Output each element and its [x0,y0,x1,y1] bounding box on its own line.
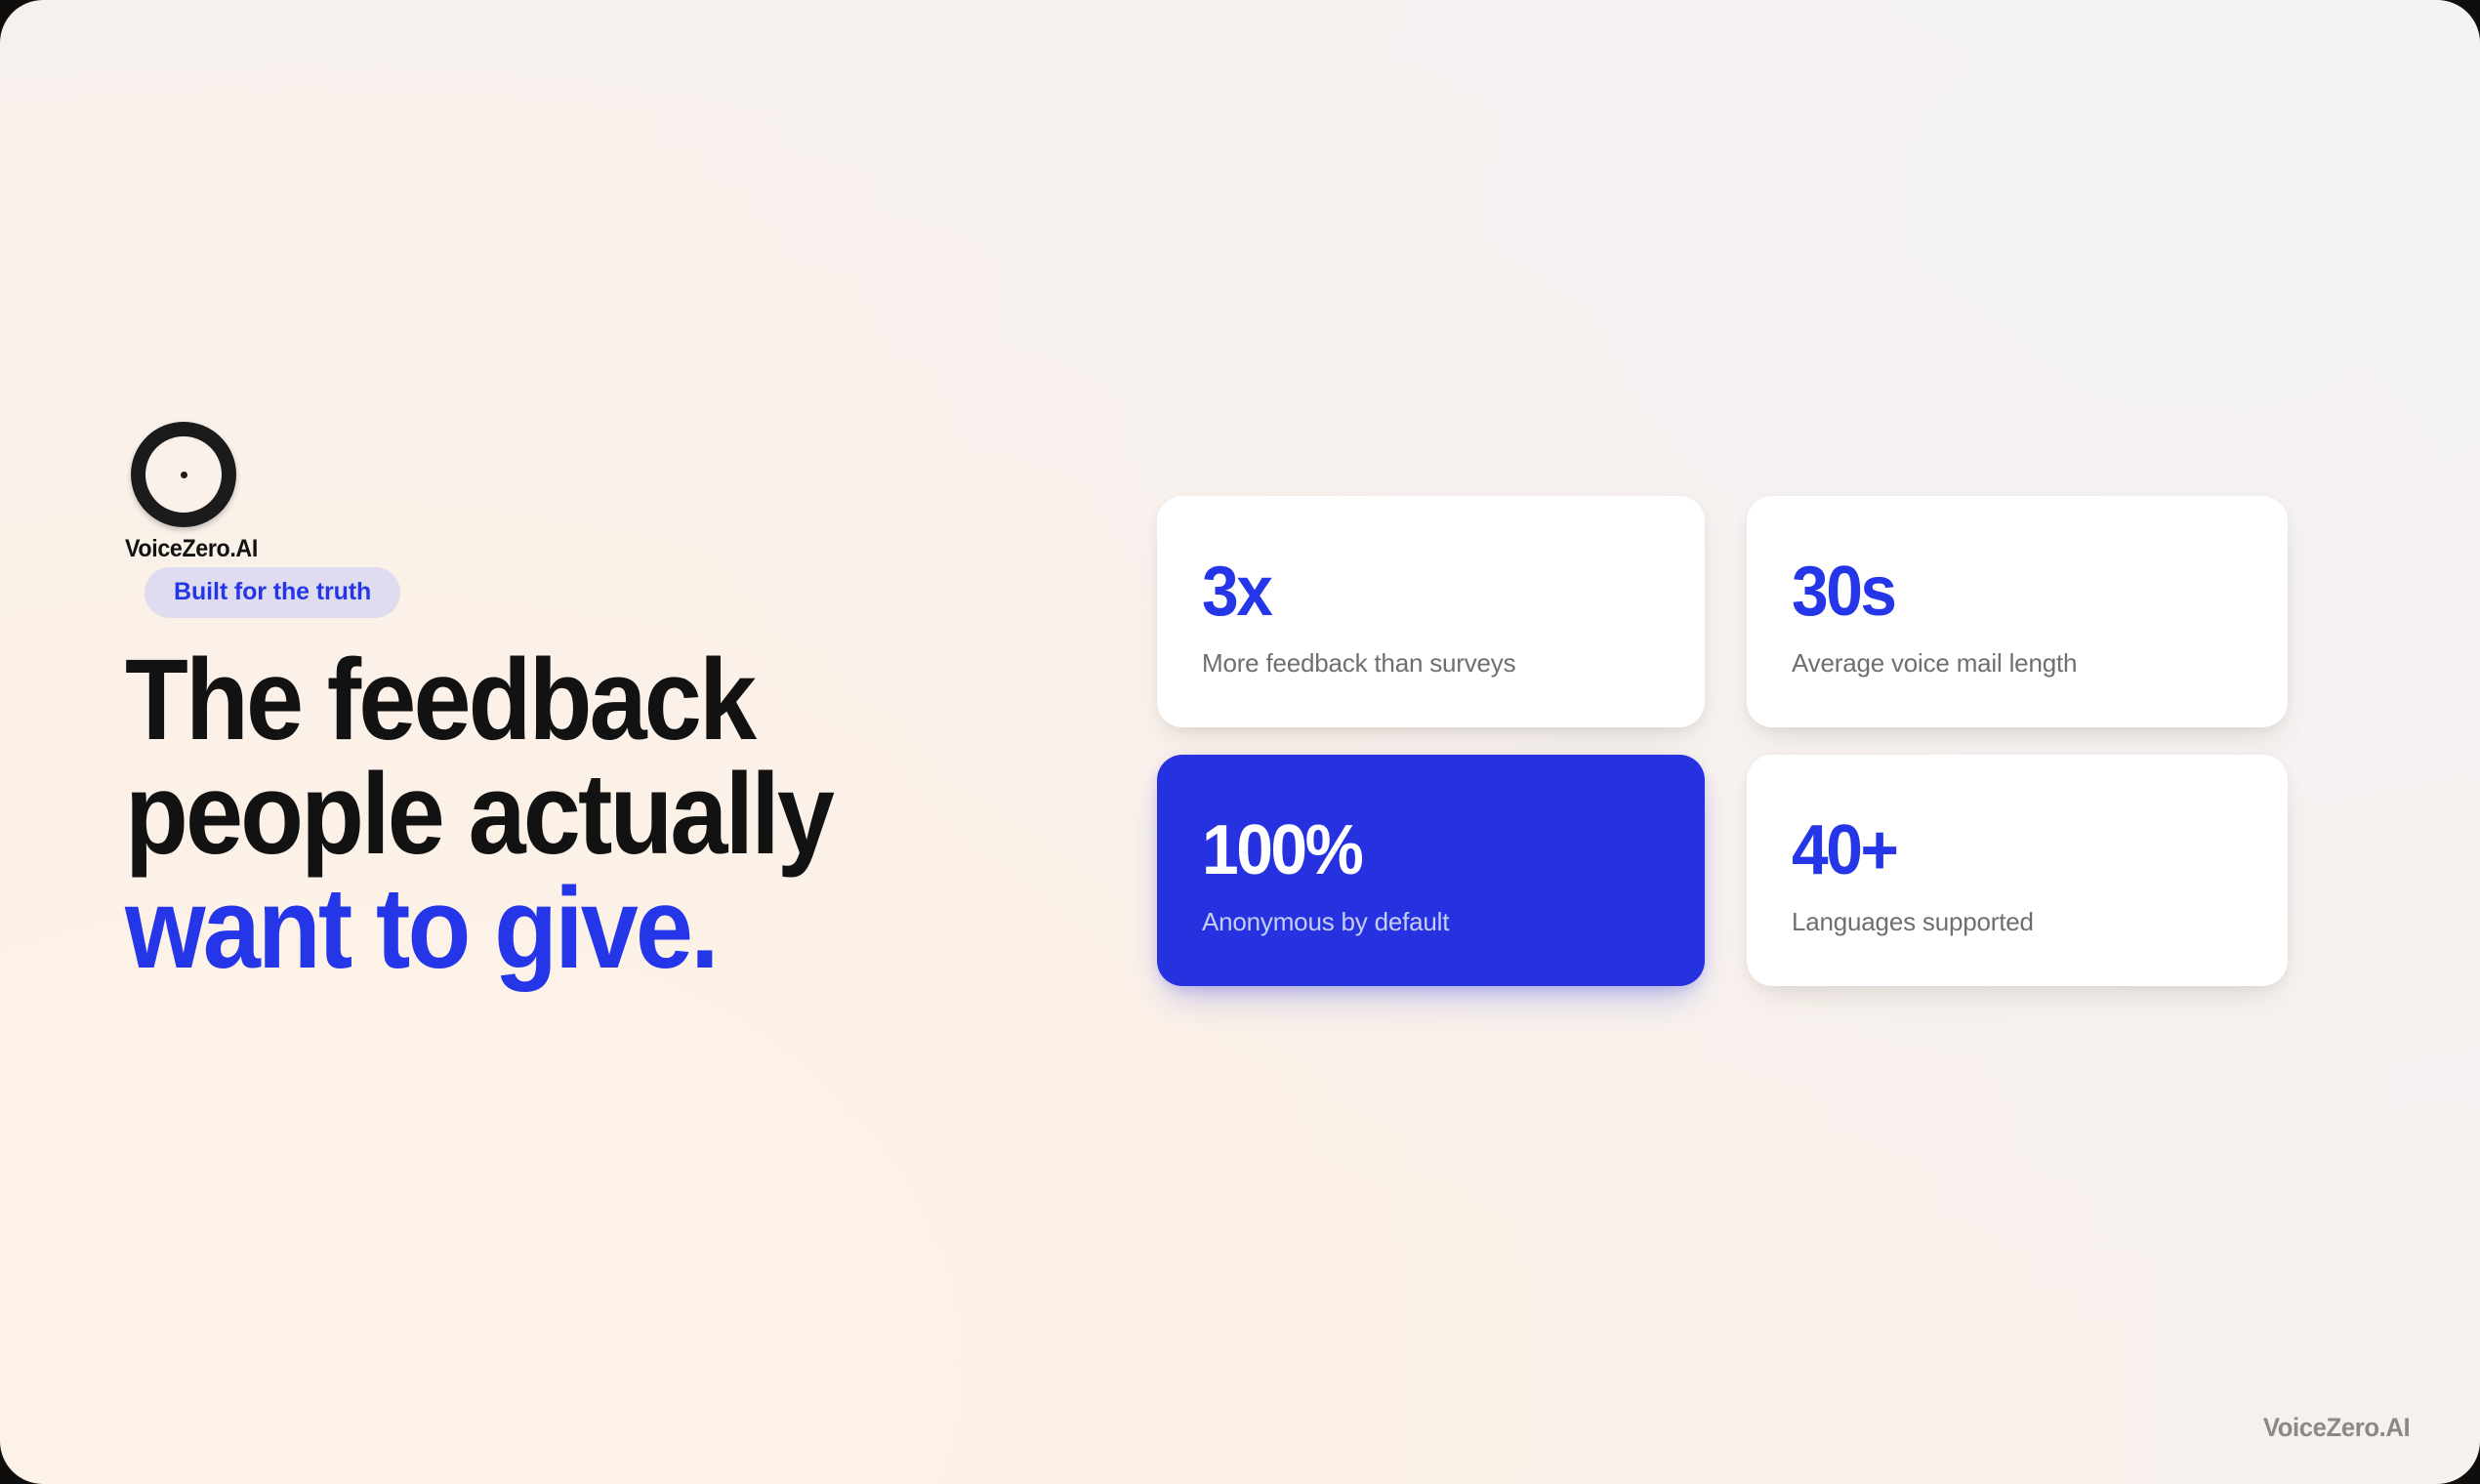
stat-card: 30s Average voice mail length [1747,496,2288,727]
stat-label: Languages supported [1792,907,2288,937]
stat-label: Average voice mail length [1792,648,2288,679]
ring-dot-logo-icon [131,422,236,527]
brand-name: VoiceZero.AI [125,537,1033,561]
status-badge: Built for the truth [145,567,400,618]
headline-line-2: people actually [125,750,832,879]
stat-value: 30s [1792,556,2258,627]
stats-grid: 3x More feedback than surveys 30s Averag… [1157,496,2288,986]
stat-card: 40+ Languages supported [1747,755,2288,986]
stat-value: 3x [1202,556,1674,627]
footer-watermark: VoiceZero.AI [2263,1413,2410,1443]
hero-left-column: VoiceZero.AI Built for the truth The fee… [125,422,1101,1062]
slide-canvas: VoiceZero.AI Built for the truth The fee… [0,0,2480,1484]
logo-center-dot [181,472,187,478]
headline-line-1: The feedback [125,636,754,764]
stat-label: More feedback than surveys [1202,648,1705,679]
stat-label: Anonymous by default [1202,907,1705,937]
stat-value: 100% [1202,815,1674,886]
stat-value: 40+ [1792,815,2258,886]
page-title: The feedback people actually want to giv… [125,643,1109,985]
headline-line-3-accent: want to give. [125,864,717,993]
stat-card: 3x More feedback than surveys [1157,496,1705,727]
stat-card-highlighted: 100% Anonymous by default [1157,755,1705,986]
